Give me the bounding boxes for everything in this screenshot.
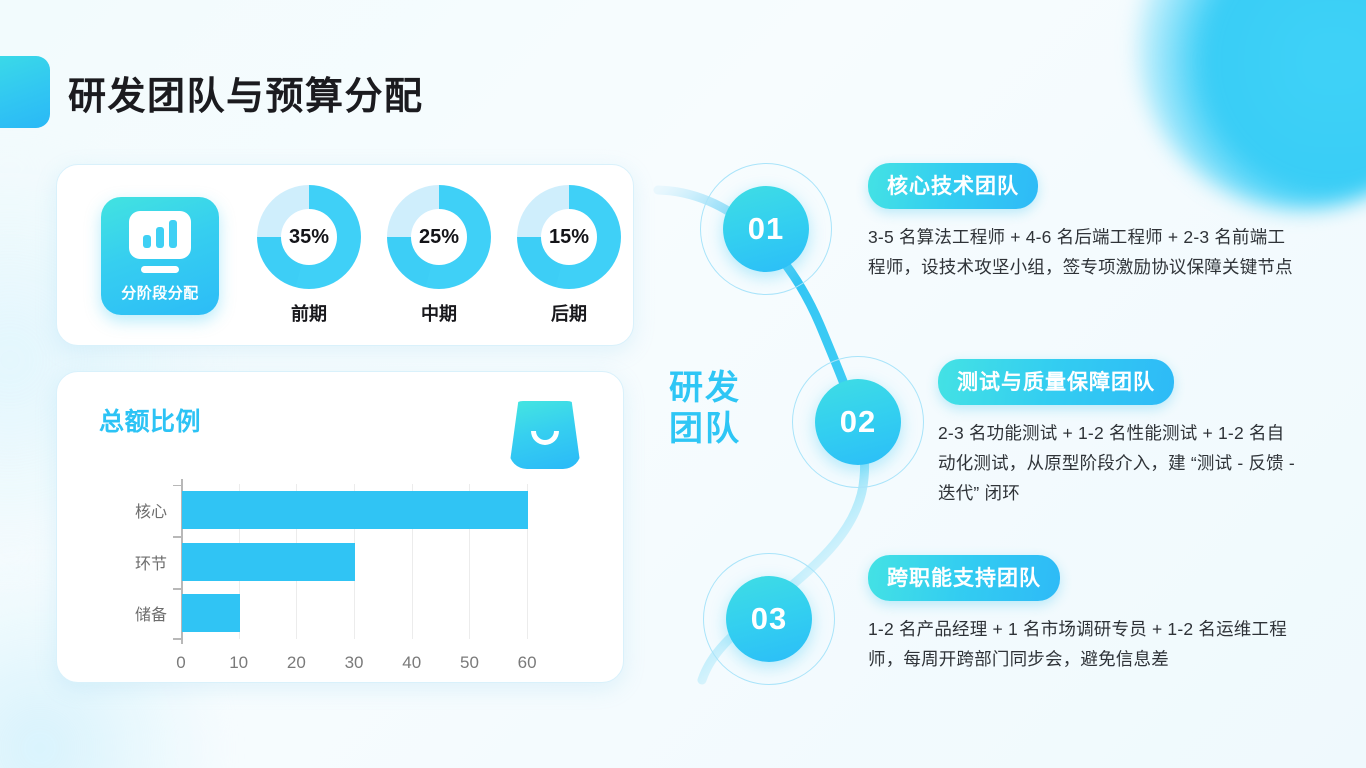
- chart-x-tick-label: 30: [345, 653, 364, 673]
- monitor-stand-icon: [141, 266, 179, 273]
- phase-tile-label: 分阶段分配: [121, 282, 199, 303]
- page-title: 研发团队与预算分配: [68, 65, 424, 120]
- chart-bar: [182, 491, 528, 529]
- phase-allocation-tile: 分阶段分配: [101, 197, 219, 315]
- step-block-03: 跨职能支持团队 1-2 名产品经理 + 1 名市场调研专员 + 1-2 名运维工…: [868, 555, 1288, 674]
- donut-chart: 25%: [387, 185, 491, 289]
- step-badge: 测试与质量保障团队: [938, 359, 1174, 405]
- chart-x-tick-label: 10: [229, 653, 248, 673]
- total-ratio-card: 总额比例 核心环节储备 0102030405060: [56, 371, 624, 683]
- donut-percent: 25%: [387, 185, 491, 289]
- donut-label: 前期: [291, 300, 327, 326]
- chart-x-tick-label: 20: [287, 653, 306, 673]
- shopping-bag-icon: [509, 401, 581, 469]
- chart-category-label: 核心: [135, 498, 167, 522]
- page-header: 研发团队与预算分配: [0, 56, 520, 132]
- donut-item: 15% 后期: [513, 185, 625, 335]
- bar-chart-monitor-icon: [129, 211, 191, 259]
- chart-bar: [182, 543, 355, 581]
- step-body: 2-3 名功能测试 + 1-2 名性能测试 + 1-2 名自动化测试，从原型阶段…: [938, 418, 1300, 508]
- chart-y-tick: [173, 536, 181, 538]
- chart-category-label: 储备: [135, 601, 167, 625]
- chart-x-tick-label: 0: [176, 653, 185, 673]
- donut-label: 后期: [551, 300, 587, 326]
- step-node-number: 03: [726, 576, 812, 662]
- chart-category-label: 环节: [135, 550, 167, 574]
- chart-y-tick: [173, 485, 181, 487]
- chart-y-tick: [173, 638, 181, 640]
- step-node-number: 02: [815, 379, 901, 465]
- chart-y-tick: [173, 588, 181, 590]
- step-body: 1-2 名产品经理 + 1 名市场调研专员 + 1-2 名运维工程师，每周开跨部…: [868, 614, 1288, 674]
- donut-percent: 15%: [517, 185, 621, 289]
- chart-x-tick-label: 50: [460, 653, 479, 673]
- title-accent-block: [0, 56, 50, 128]
- donut-chart: 15%: [517, 185, 621, 289]
- donut-row: 35% 前期 25% 中期 15% 后期: [253, 185, 625, 335]
- step-block-02: 测试与质量保障团队 2-3 名功能测试 + 1-2 名性能测试 + 1-2 名自…: [938, 359, 1300, 508]
- bar-chart-plot: 核心环节储备 0102030405060: [181, 484, 556, 639]
- step-node-number: 01: [723, 186, 809, 272]
- chart-x-tick-label: 40: [402, 653, 421, 673]
- chart-title: 总额比例: [99, 402, 201, 438]
- donut-chart: 35%: [257, 185, 361, 289]
- chart-bar: [182, 594, 240, 632]
- step-node-02[interactable]: 02: [792, 356, 924, 488]
- donut-item: 35% 前期: [253, 185, 365, 335]
- chart-x-tick-label: 60: [518, 653, 537, 673]
- phase-allocation-card: 分阶段分配 35% 前期 25% 中期 15% 后期: [56, 164, 634, 346]
- chart-x-axis-labels: 0102030405060: [181, 653, 556, 675]
- donut-label: 中期: [421, 300, 457, 326]
- step-badge: 跨职能支持团队: [868, 555, 1060, 601]
- step-body: 3-5 名算法工程师 + 4-6 名后端工程师 + 2-3 名前端工程师，设技术…: [868, 222, 1300, 282]
- step-node-03[interactable]: 03: [703, 553, 835, 685]
- step-badge: 核心技术团队: [868, 163, 1038, 209]
- step-node-01[interactable]: 01: [700, 163, 832, 295]
- donut-percent: 35%: [257, 185, 361, 289]
- step-block-01: 核心技术团队 3-5 名算法工程师 + 4-6 名后端工程师 + 2-3 名前端…: [868, 163, 1300, 282]
- donut-item: 25% 中期: [383, 185, 495, 335]
